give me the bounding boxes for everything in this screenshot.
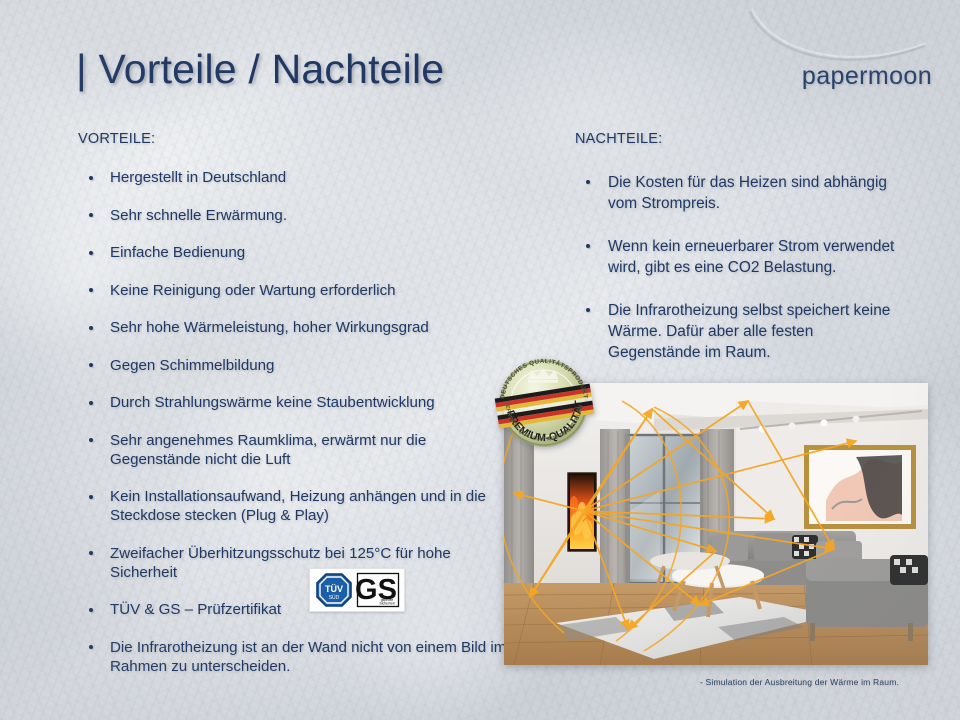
list-item: Zweifacher Überhitzungsschutz bei 125°C …	[78, 544, 518, 582]
brand-logo-papermoon: papermoon	[802, 62, 932, 91]
vorteile-list: Hergestellt in Deutschland Sehr schnelle…	[78, 168, 518, 694]
list-item: Kein Installationsaufwand, Heizung anhän…	[78, 487, 518, 525]
list-item: Sehr angenehmes Raumklima, erwärmt nur d…	[78, 431, 518, 469]
vorteile-heading: VORTEILE:	[78, 131, 155, 147]
list-item: Wenn kein erneuerbarer Strom verwendet w…	[575, 236, 905, 278]
image-caption: - Simulation der Ausbreitung der Wärme i…	[700, 677, 899, 687]
svg-text:Sicherheit: Sicherheit	[379, 602, 394, 606]
list-item: TÜV & GS – Prüfzertifikat	[78, 600, 518, 619]
nachteile-list: Die Kosten für das Heizen sind abhängig …	[575, 172, 905, 385]
list-item: Gegen Schimmelbildung	[78, 356, 518, 375]
list-item: Sehr schnelle Erwärmung.	[78, 206, 518, 225]
svg-text:TÜV: TÜV	[325, 584, 343, 594]
tuv-sud-icon: TÜV SÜD	[314, 572, 354, 608]
list-item: Die Infrarotheizung selbst speichert kei…	[575, 300, 905, 363]
page-title: | Vorteile / Nachteile	[76, 46, 444, 93]
list-item: Sehr hohe Wärmeleistung, hoher Wirkungsg…	[78, 318, 518, 337]
svg-text:SÜD: SÜD	[329, 594, 340, 601]
list-item: Hergestellt in Deutschland	[78, 168, 518, 187]
list-item: Durch Strahlungswärme keine Staubentwick…	[78, 393, 518, 412]
gs-mark-icon: GS geprüfte Sicherheit	[356, 572, 400, 608]
list-item: Einfache Bedienung	[78, 243, 518, 262]
nachteile-heading: NACHTEILE:	[575, 131, 662, 147]
list-item: Die Infrarotheizung ist an der Wand nich…	[78, 638, 518, 676]
list-item: Die Kosten für das Heizen sind abhängig …	[575, 172, 905, 214]
premium-quality-seal-icon: PREMIUM-QUALITÄT DEUTSCHES QUALITÄTSPROD…	[488, 347, 614, 457]
slide: | Vorteile / Nachteile papermoon VORTEIL…	[0, 0, 960, 720]
tuv-gs-certification-badge: TÜV SÜD GS geprüfte Sicherheit	[309, 568, 405, 612]
list-item: Keine Reinigung oder Wartung erforderlic…	[78, 281, 518, 300]
